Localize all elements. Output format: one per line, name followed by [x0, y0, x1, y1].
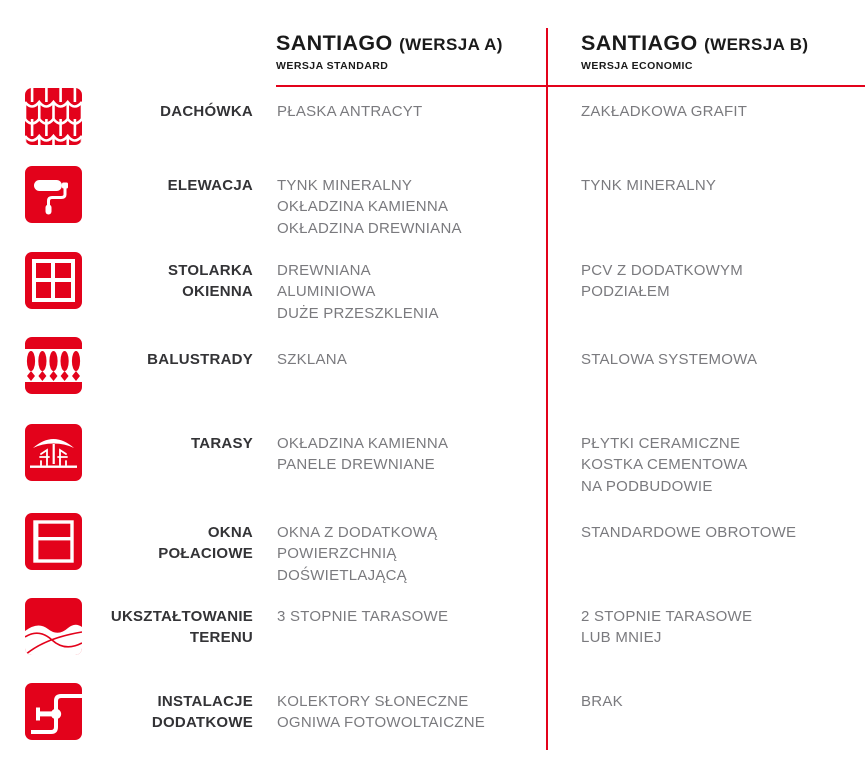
row-label: ELEWACJA: [95, 175, 253, 196]
row-label: BALUSTRADY: [95, 349, 253, 370]
row-value-version-b: BRAK: [581, 691, 856, 712]
row-label: UKSZTAŁTOWANIE TERENU: [95, 606, 253, 649]
row-value-version-b: 2 STOPNIE TARASOWE LUB MNIEJ: [581, 606, 856, 649]
table-header: SANTIAGO (WERSJA A) WERSJA STANDARD SANT…: [0, 0, 865, 86]
column-b-title: SANTIAGO (WERSJA B): [581, 32, 809, 55]
row-value-version-a: OKŁADZINA KAMIENNA PANELE DREWNIANE: [277, 433, 535, 476]
column-a-subtitle: WERSJA STANDARD: [276, 60, 503, 72]
terrace-umbrella-icon: [25, 424, 82, 481]
row-value-version-b: ZAKŁADKOWA GRAFIT: [581, 101, 856, 122]
row-value-version-b: STALOWA SYSTEMOWA: [581, 349, 856, 370]
column-a-title-paren: (WERSJA A): [399, 35, 503, 54]
row-label: TARASY: [95, 433, 253, 454]
header-horizontal-divider: [276, 85, 865, 87]
plumbing-installation-icon: [25, 683, 82, 740]
row-label: OKNA POŁACIOWE: [95, 522, 253, 565]
row-value-version-b: PŁYTKI CERAMICZNE KOSTKA CEMENTOWA NA PO…: [581, 433, 856, 497]
row-label: INSTALACJE DODATKOWE: [95, 691, 253, 734]
roof-window-icon: [25, 513, 82, 570]
column-a-title-main: SANTIAGO: [276, 31, 393, 55]
row-value-version-b: STANDARDOWE OBROTOWE: [581, 522, 856, 543]
roof-tile-icon: [25, 88, 82, 145]
terrain-icon: [25, 598, 82, 655]
row-value-version-b: PCV Z DODATKOWYM PODZIAŁEM: [581, 260, 856, 303]
column-b-title-main: SANTIAGO: [581, 31, 698, 55]
row-value-version-b: TYNK MINERALNY: [581, 175, 856, 196]
column-header-a: SANTIAGO (WERSJA A) WERSJA STANDARD: [276, 32, 503, 72]
column-b-subtitle: WERSJA ECONOMIC: [581, 60, 809, 72]
row-label: STOLARKA OKIENNA: [95, 260, 253, 303]
column-vertical-divider: [546, 28, 548, 750]
column-a-title: SANTIAGO (WERSJA A): [276, 32, 503, 55]
row-value-version-a: OKNA Z DODATKOWĄ POWIERZCHNIĄ DOŚWIETLAJ…: [277, 522, 535, 586]
row-label: DACHÓWKA: [95, 101, 253, 122]
row-value-version-a: DREWNIANA ALUMINIOWA DUŻE PRZESZKLENIA: [277, 260, 535, 324]
row-value-version-a: PŁASKA ANTRACYT: [277, 101, 535, 122]
row-value-version-a: 3 STOPNIE TARASOWE: [277, 606, 535, 627]
column-header-b: SANTIAGO (WERSJA B) WERSJA ECONOMIC: [581, 32, 809, 72]
balustrade-icon: [25, 337, 82, 394]
row-value-version-a: TYNK MINERALNY OKŁADZINA KAMIENNA OKŁADZ…: [277, 175, 535, 239]
paint-roller-icon: [25, 166, 82, 223]
column-b-title-paren: (WERSJA B): [704, 35, 808, 54]
window-icon: [25, 252, 82, 309]
comparison-sheet: SANTIAGO (WERSJA A) WERSJA STANDARD SANT…: [0, 0, 865, 770]
row-value-version-a: KOLEKTORY SŁONECZNE OGNIWA FOTOWOLTAICZN…: [277, 691, 535, 734]
row-value-version-a: SZKLANA: [277, 349, 535, 370]
